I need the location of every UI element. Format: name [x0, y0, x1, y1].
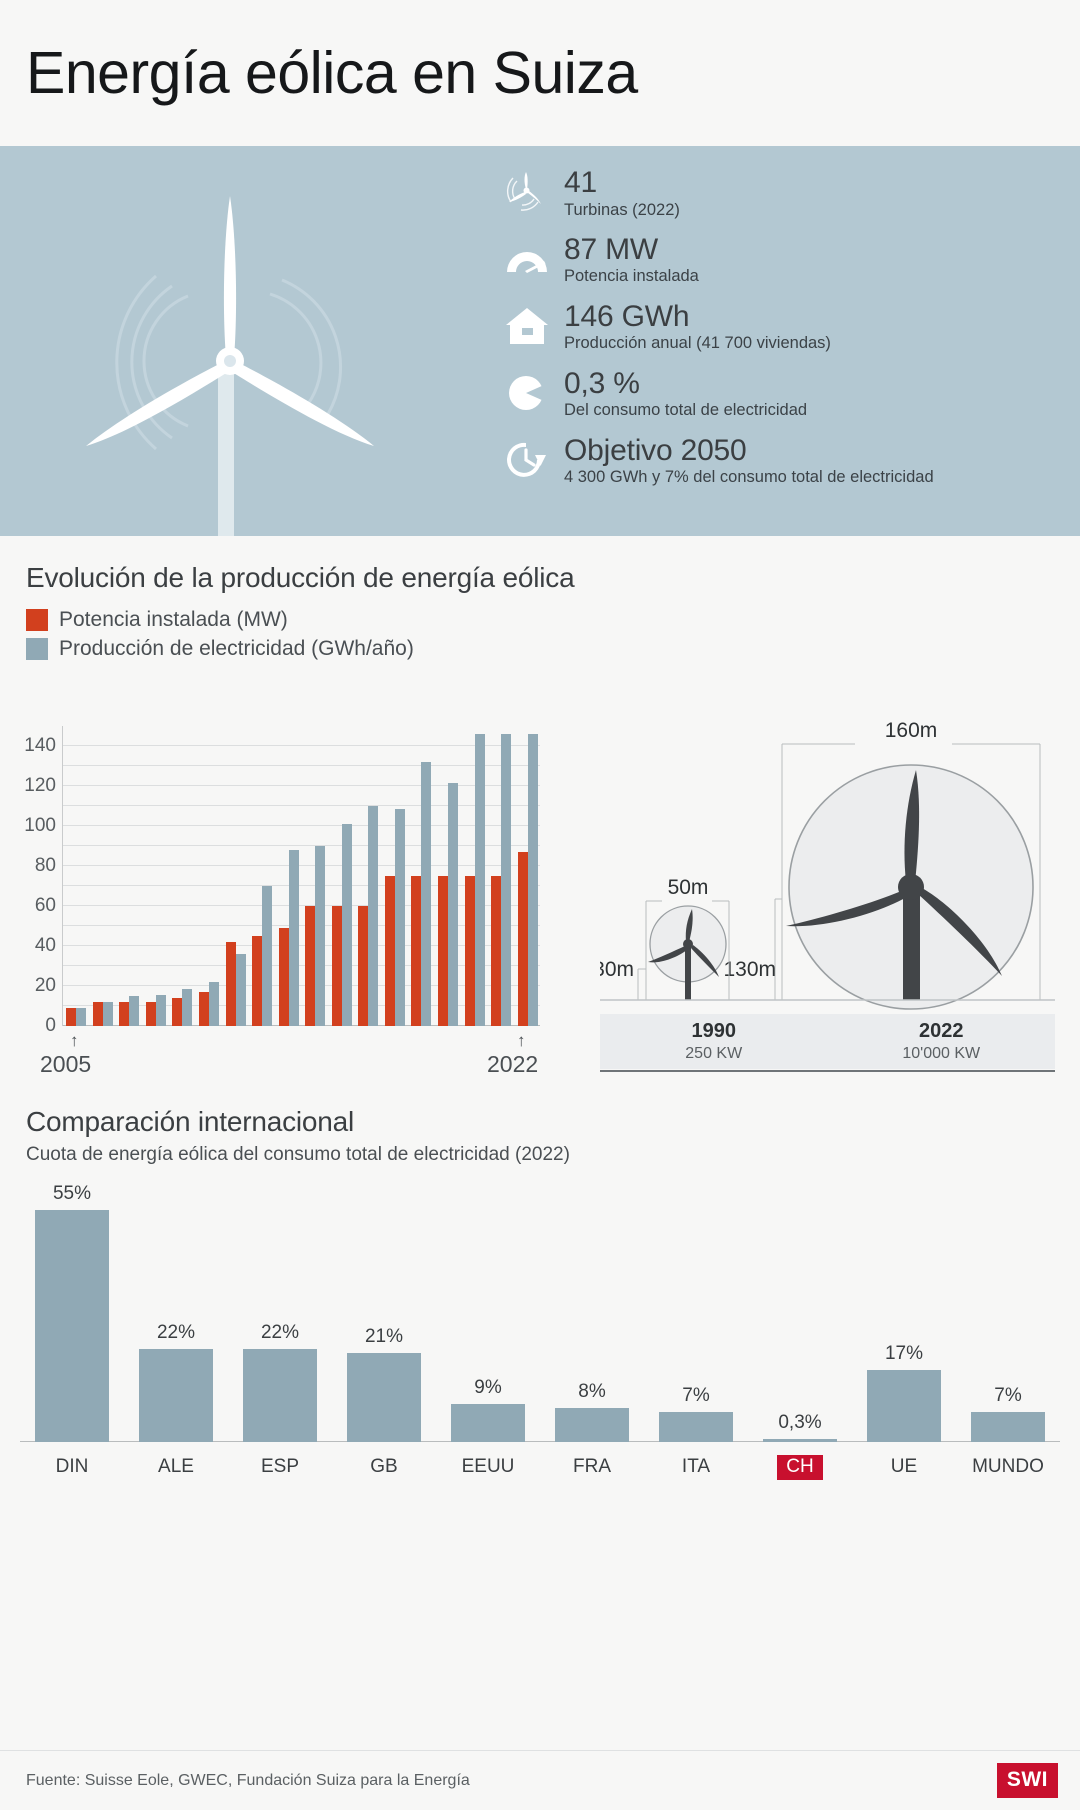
turbine-year: 2022 — [919, 1020, 964, 1043]
bar-group — [302, 726, 329, 1026]
comparison-value-label: 7% — [682, 1385, 709, 1407]
comparison-bar-column: 17%UE — [867, 1343, 941, 1484]
stat-label: Turbinas (2022) — [564, 201, 680, 220]
y-axis-tick-label: 80 — [35, 855, 56, 877]
comparison-bar-column: 22%ALE — [139, 1322, 213, 1484]
stat-annual-production: 146 GWh Producción anual (41 700 viviend… — [500, 300, 1060, 354]
bar-electricity-production — [528, 734, 538, 1026]
house-icon — [500, 300, 554, 352]
turbine-size-comparison: 160m 130m — [600, 704, 1055, 1029]
evolution-legend: Potencia instalada (MW) Producción de el… — [0, 608, 1080, 661]
legend-swatch-mw — [26, 609, 48, 631]
bar-installed-power — [411, 876, 421, 1026]
start-arrow-icon: ↑ — [70, 1031, 79, 1051]
clock-arrow-icon — [500, 434, 554, 486]
bar-installed-power — [226, 942, 236, 1026]
comparison-country-label: ESP — [261, 1456, 299, 1478]
comparison-bar — [659, 1412, 733, 1442]
footer: Fuente: Suisse Eole, GWEC, Fundación Sui… — [0, 1750, 1080, 1810]
bar-group — [275, 726, 302, 1026]
turbine-comparison-years: 1990 250 KW 2022 10'000 KW — [600, 1014, 1055, 1069]
bar-installed-power — [332, 906, 342, 1026]
legend-label: Potencia instalada (MW) — [59, 608, 288, 632]
comparison-bar — [243, 1349, 317, 1442]
comparison-bar-column: 21%GB — [347, 1326, 421, 1484]
y-axis-tick-label: 140 — [24, 735, 56, 757]
bar-installed-power — [279, 928, 289, 1026]
stat-label: Potencia instalada — [564, 267, 699, 286]
comparison-country-label: UE — [891, 1456, 917, 1478]
bar-installed-power — [518, 852, 528, 1026]
stat-turbines: 41 Turbinas (2022) — [500, 166, 1060, 220]
bar-group — [408, 726, 435, 1026]
bar-installed-power — [438, 876, 448, 1026]
infographic-page: Energía eólica en Suiza — [0, 0, 1080, 1810]
bar-group — [90, 726, 117, 1026]
turbine-power: 10'000 KW — [902, 1045, 980, 1063]
bar-group — [196, 726, 223, 1026]
bar-electricity-production — [129, 996, 139, 1026]
bar-electricity-production — [342, 824, 352, 1026]
bar-installed-power — [305, 906, 315, 1026]
bar-electricity-production — [501, 734, 511, 1026]
bar-electricity-production — [182, 989, 192, 1026]
source-text: Fuente: Suisse Eole, GWEC, Fundación Sui… — [26, 1772, 470, 1790]
stat-share: 0,3 % Del consumo total de electricidad — [500, 367, 1060, 421]
pie-chart-icon — [500, 367, 554, 419]
bar-group — [435, 726, 462, 1026]
bar-installed-power — [385, 876, 395, 1026]
bar-electricity-production — [315, 846, 325, 1026]
bar-group — [116, 726, 143, 1026]
section-evolution: Evolución de la producción de energía eó… — [0, 536, 1080, 1096]
bar-electricity-production — [209, 982, 219, 1026]
bar-installed-power — [252, 936, 262, 1026]
bar-electricity-production — [236, 954, 246, 1026]
bar-group — [143, 726, 170, 1026]
bar-electricity-production — [448, 783, 458, 1026]
legend-label: Producción de electricidad (GWh/año) — [59, 637, 414, 661]
bar-electricity-production — [289, 850, 299, 1026]
stat-label: 4 300 GWh y 7% del consumo total de elec… — [564, 468, 934, 487]
bar-group — [222, 726, 249, 1026]
stat-value: 41 — [564, 167, 680, 199]
comparison-bar-column: 8%FRA — [555, 1381, 629, 1484]
bar-electricity-production — [262, 886, 272, 1026]
bar-group — [461, 726, 488, 1026]
comparison-bar-column: 22%ESP — [243, 1322, 317, 1484]
page-title: Energía eólica en Suiza — [26, 39, 638, 107]
stat-goal-2050: Objetivo 2050 4 300 GWh y 7% del consumo… — [500, 434, 1060, 488]
section-comparison-title: Comparación internacional — [0, 1106, 1080, 1138]
turbine-power: 250 KW — [685, 1045, 742, 1063]
wind-turbine-icon — [500, 166, 554, 218]
bar-installed-power — [146, 1002, 156, 1026]
comparison-bar — [35, 1210, 109, 1442]
bar-group — [514, 726, 541, 1026]
bar-installed-power — [93, 1002, 103, 1026]
stat-value: 146 GWh — [564, 301, 831, 333]
legend-item: Potencia instalada (MW) — [26, 608, 1080, 632]
comparison-bar-column: 55%DIN — [35, 1183, 109, 1484]
comparison-bar-column: 7%ITA — [659, 1385, 733, 1484]
hub-height-2022-label: 130m — [723, 958, 776, 981]
stat-label: Del consumo total de electricidad — [564, 401, 807, 420]
bar-installed-power — [199, 992, 209, 1026]
bar-electricity-production — [156, 995, 166, 1026]
comparison-country-label: ALE — [158, 1456, 194, 1478]
bar-installed-power — [172, 998, 182, 1026]
hub-height-1990-label: 30m — [600, 958, 634, 981]
rotor-diameter-2022-label: 160m — [885, 719, 938, 742]
bar-group — [488, 726, 515, 1026]
comparison-value-label: 8% — [578, 1381, 605, 1403]
section-evolution-title: Evolución de la producción de energía eó… — [0, 562, 1080, 594]
bar-group — [63, 726, 90, 1026]
comparison-bar — [347, 1353, 421, 1442]
rotor-diameter-1990-label: 50m — [668, 876, 709, 899]
hero-panel: 41 Turbinas (2022) 87 MW Potencia instal… — [0, 146, 1080, 536]
bar-installed-power — [491, 876, 501, 1026]
comparison-bar — [555, 1408, 629, 1442]
comparison-bar-column: 0,3%CH — [763, 1412, 837, 1484]
section-comparison-subtitle: Cuota de energía eólica del consumo tota… — [0, 1144, 1080, 1166]
bar-installed-power — [119, 1002, 129, 1026]
comparison-country-label: DIN — [56, 1456, 89, 1478]
bar-electricity-production — [76, 1008, 86, 1026]
swi-logo: SWI — [997, 1763, 1058, 1798]
y-axis-tick-label: 120 — [24, 775, 56, 797]
comparison-value-label: 0,3% — [778, 1412, 821, 1434]
bar-electricity-production — [103, 1002, 113, 1026]
legend-swatch-gwh — [26, 638, 48, 660]
y-axis-tick-label: 40 — [35, 935, 56, 957]
bar-group — [329, 726, 356, 1026]
comparison-bar-column: 9%EEUU — [451, 1377, 525, 1484]
comparison-value-label: 55% — [53, 1183, 91, 1205]
bar-group — [355, 726, 382, 1026]
x-axis-start-label: 2005 — [40, 1051, 91, 1078]
evolution-y-axis: 020406080100120140 — [0, 726, 62, 1026]
comparison-country-label: EEUU — [462, 1456, 515, 1478]
stat-value: Objetivo 2050 — [564, 435, 934, 467]
gauge-icon — [500, 233, 554, 285]
y-axis-tick-label: 60 — [35, 895, 56, 917]
comparison-value-label: 22% — [157, 1322, 195, 1344]
stat-value: 0,3 % — [564, 368, 807, 400]
comparison-value-label: 7% — [994, 1385, 1021, 1407]
comparison-chart: 55%DIN22%ALE22%ESP21%GB9%EEUU8%FRA7%ITA0… — [0, 1184, 1080, 1484]
y-axis-tick-label: 100 — [24, 815, 56, 837]
comparison-bar — [139, 1349, 213, 1442]
stat-installed-power: 87 MW Potencia instalada — [500, 233, 1060, 287]
bar-electricity-production — [368, 806, 378, 1026]
comparison-country-label: GB — [370, 1456, 397, 1478]
turbine-comparison-baseline — [600, 1070, 1055, 1072]
bar-electricity-production — [395, 809, 405, 1026]
comparison-bar-column: 7%MUNDO — [971, 1385, 1045, 1484]
comparison-value-label: 17% — [885, 1343, 923, 1365]
bar-installed-power — [465, 876, 475, 1026]
header: Energía eólica en Suiza — [0, 0, 1080, 146]
turbine-2022-cell: 2022 10'000 KW — [828, 1014, 1056, 1069]
end-arrow-icon: ↑ — [517, 1031, 526, 1051]
section-international-comparison: Comparación internacional Cuota de energ… — [0, 1096, 1080, 1484]
hero-stats: 41 Turbinas (2022) 87 MW Potencia instal… — [500, 166, 1060, 501]
comparison-bar — [971, 1412, 1045, 1442]
evolution-plot-area — [62, 726, 540, 1026]
turbine-year: 1990 — [692, 1020, 737, 1043]
comparison-value-label: 9% — [474, 1377, 501, 1399]
wind-turbine-illustration — [40, 146, 420, 536]
stat-value: 87 MW — [564, 234, 699, 266]
comparison-country-label: FRA — [573, 1456, 611, 1478]
legend-item: Producción de electricidad (GWh/año) — [26, 637, 1080, 661]
comparison-value-label: 21% — [365, 1326, 403, 1348]
comparison-country-label: MUNDO — [972, 1456, 1044, 1478]
comparison-country-label: ITA — [682, 1456, 710, 1478]
stat-label: Producción anual (41 700 viviendas) — [564, 334, 831, 353]
x-axis-end-label: 2022 — [487, 1051, 538, 1078]
bar-electricity-production — [475, 734, 485, 1026]
evolution-chart: 020406080100120140 ↑ ↑ 2005 2022 — [0, 726, 600, 1096]
comparison-country-label: CH — [777, 1455, 822, 1480]
turbine-1990-cell: 1990 250 KW — [600, 1014, 828, 1069]
bar-group — [169, 726, 196, 1026]
comparison-bar — [867, 1370, 941, 1442]
comparison-value-label: 22% — [261, 1322, 299, 1344]
y-axis-tick-label: 20 — [35, 975, 56, 997]
bar-electricity-production — [421, 762, 431, 1026]
y-axis-tick-label: 0 — [45, 1015, 56, 1037]
bar-installed-power — [358, 906, 368, 1026]
comparison-bar — [451, 1404, 525, 1442]
bar-group — [382, 726, 409, 1026]
bar-group — [249, 726, 276, 1026]
bar-installed-power — [66, 1008, 76, 1026]
